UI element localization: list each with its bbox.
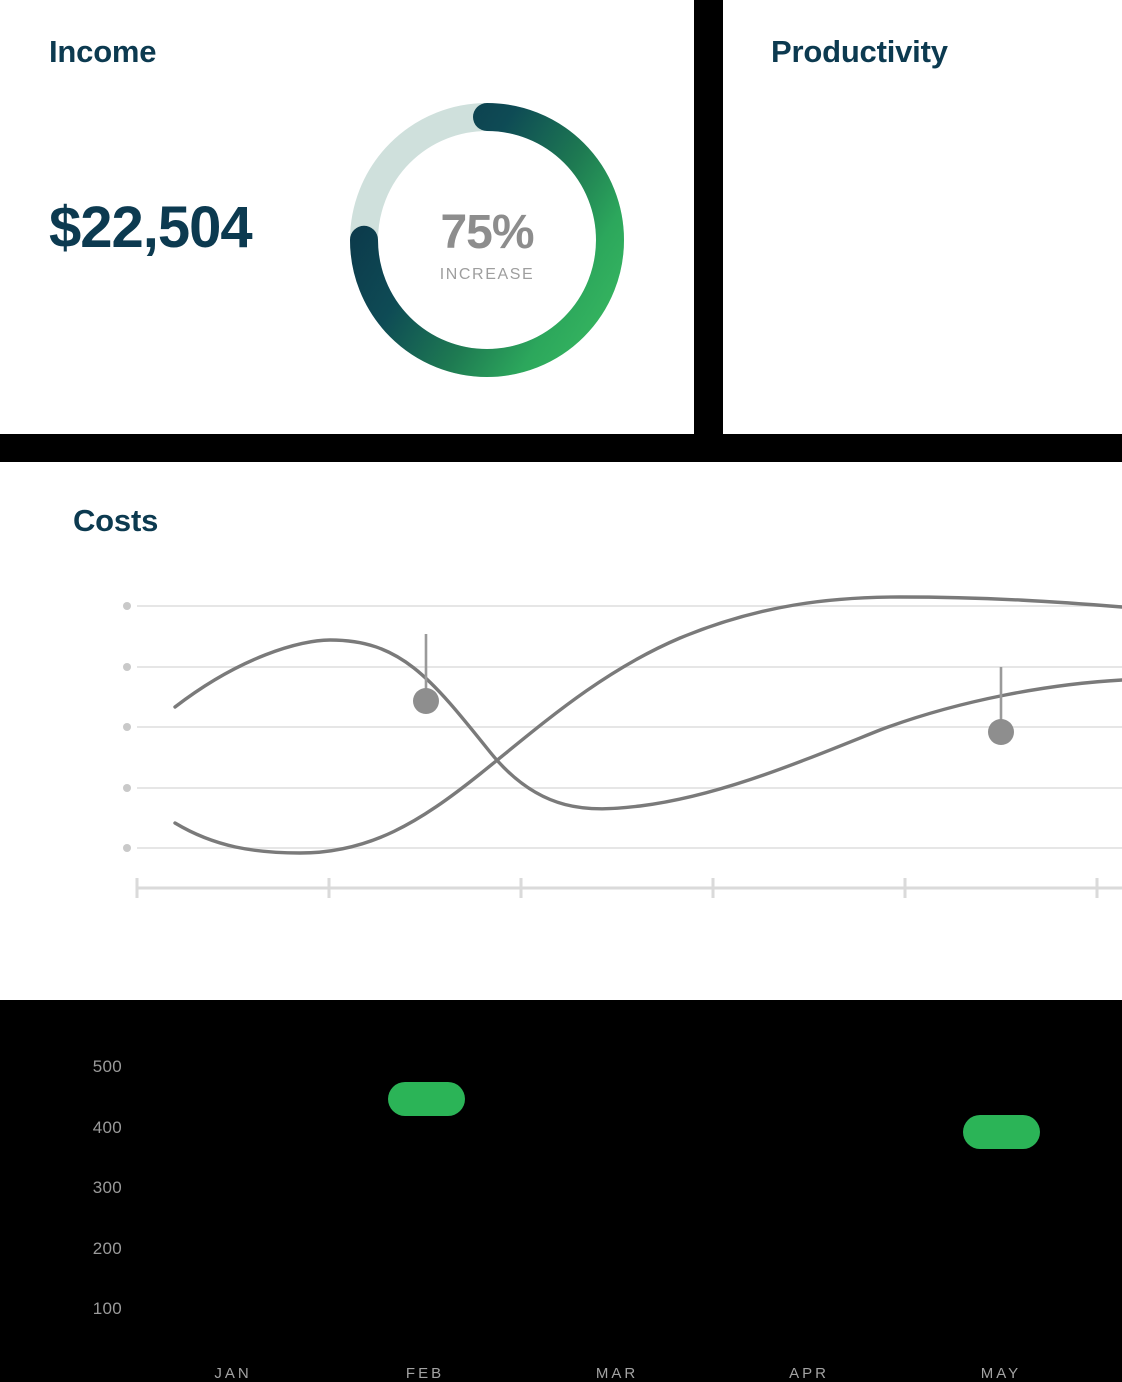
income-card-title: Income bbox=[49, 34, 156, 70]
ytick-label-500: 500 bbox=[62, 1057, 122, 1077]
xtick-label-may: MAY bbox=[941, 1365, 1061, 1382]
income-card[interactable]: Income $22,504 75% bbox=[0, 0, 694, 434]
series-b-line bbox=[175, 597, 1122, 853]
income-value: $22,504 bbox=[49, 194, 252, 261]
costs-line-chart: 500 400 300 200 100 JAN FEB MAR APR MAY bbox=[0, 462, 1122, 1000]
marker-may[interactable] bbox=[988, 667, 1014, 745]
productivity-card[interactable]: Productivity 55% INCREASE bbox=[723, 0, 1122, 434]
marker-badge-may[interactable] bbox=[963, 1115, 1040, 1149]
x-axis bbox=[137, 878, 1122, 898]
ytick-label-400: 400 bbox=[62, 1118, 122, 1138]
xtick-label-mar: MAR bbox=[557, 1365, 677, 1382]
marker-feb[interactable] bbox=[413, 634, 439, 714]
income-donut-chart: 75% INCREASE bbox=[350, 103, 624, 377]
series-a-line bbox=[175, 640, 1122, 809]
xtick-label-feb: FEB bbox=[365, 1365, 485, 1382]
marker-badge-feb[interactable] bbox=[388, 1082, 465, 1116]
metrics-row: Income $22,504 75% bbox=[0, 0, 1122, 434]
productivity-card-title: Productivity bbox=[771, 34, 948, 70]
costs-card[interactable]: Costs bbox=[0, 462, 1122, 1000]
ytick-label-100: 100 bbox=[62, 1299, 122, 1319]
gridlines bbox=[137, 606, 1122, 848]
ytick-label-200: 200 bbox=[62, 1239, 122, 1259]
ytick-dots bbox=[123, 602, 131, 852]
ytick-label-300: 300 bbox=[62, 1178, 122, 1198]
xtick-label-jan: JAN bbox=[173, 1365, 293, 1382]
xtick-label-apr: APR bbox=[749, 1365, 869, 1382]
